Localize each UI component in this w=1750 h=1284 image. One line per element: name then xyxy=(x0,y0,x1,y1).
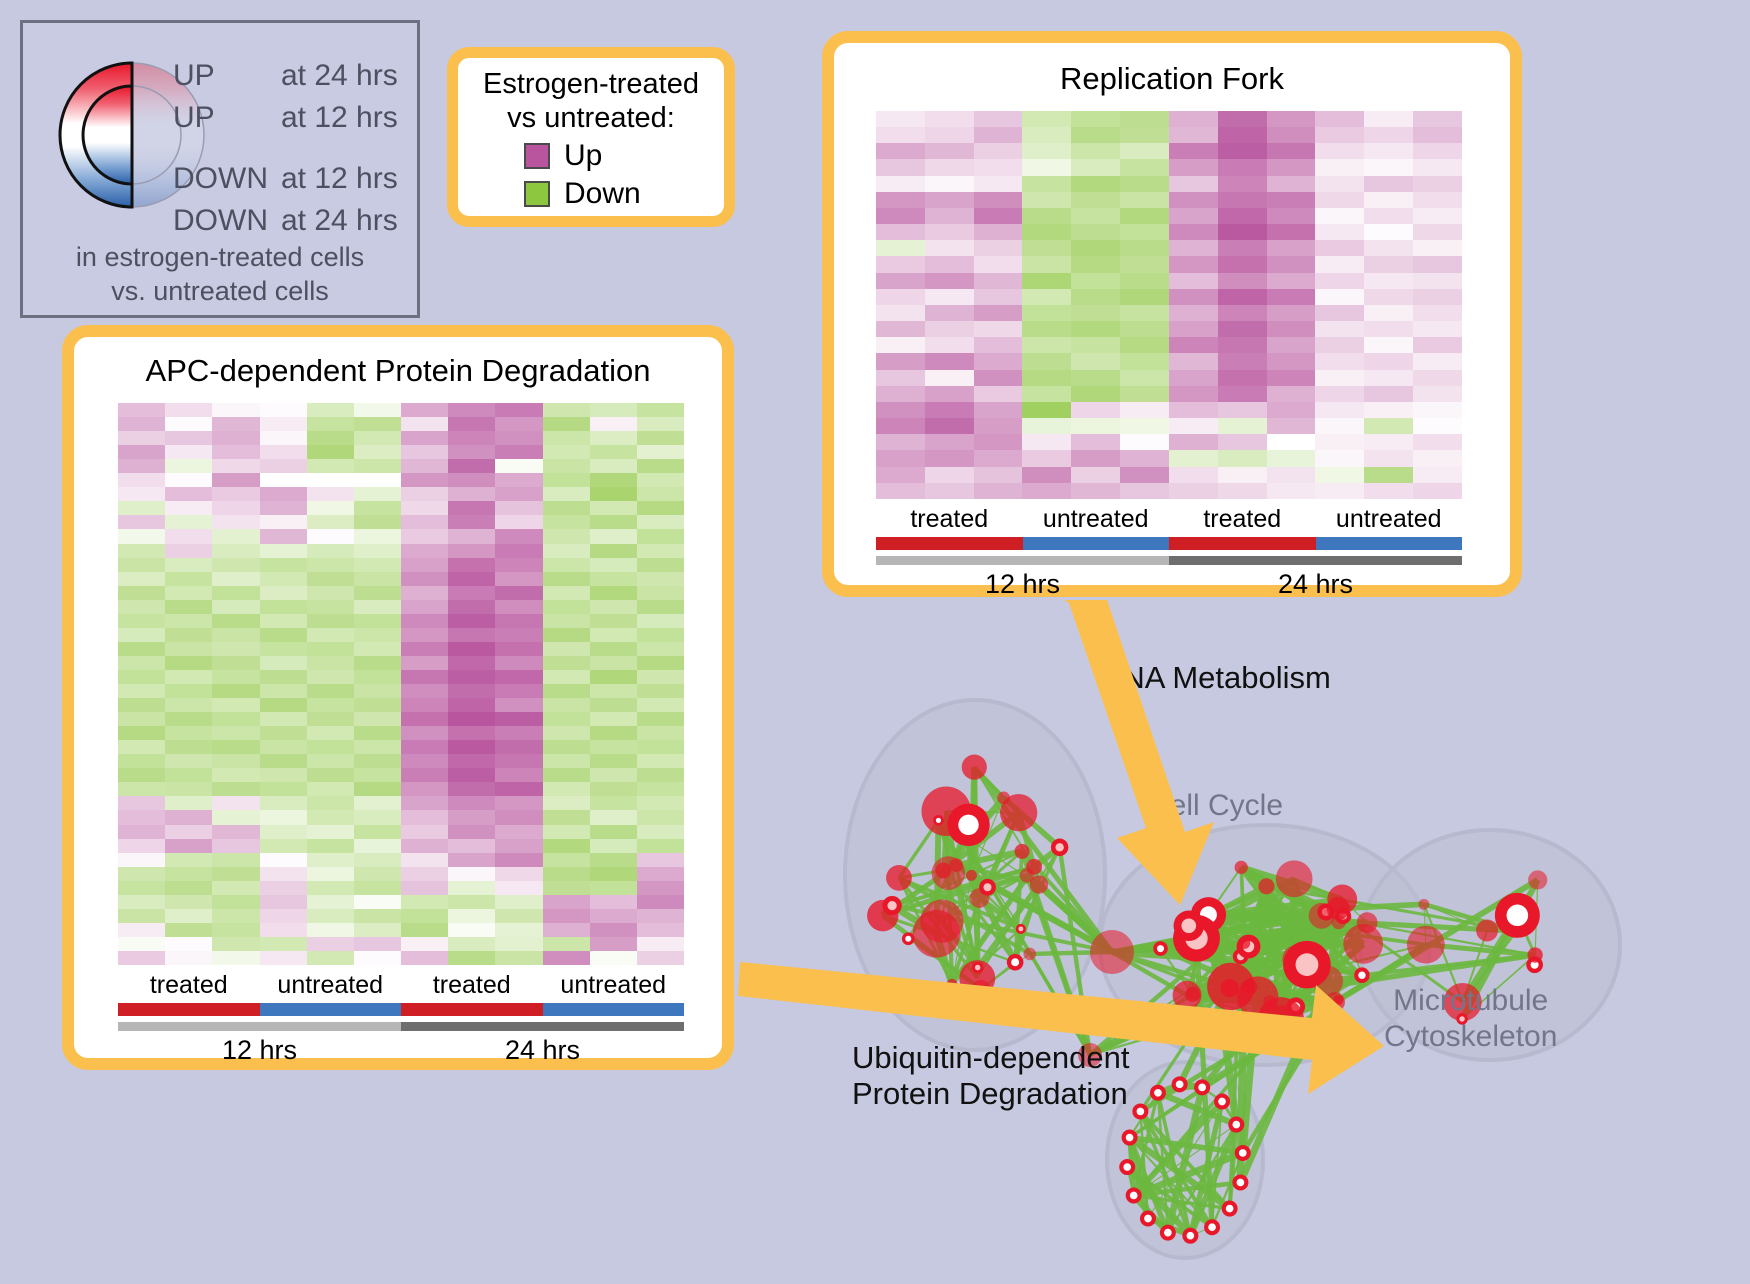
heatmap-cell xyxy=(543,923,590,937)
heatmap-cell xyxy=(974,273,1023,289)
heatmap-cell xyxy=(401,600,448,614)
heatmap-cell xyxy=(165,782,212,796)
heatmap-cell xyxy=(165,754,212,768)
heatmap-cell xyxy=(876,450,925,466)
heatmap-cell xyxy=(543,642,590,656)
heatmap-cell xyxy=(212,445,259,459)
heatmap-cell xyxy=(1169,143,1218,159)
heatmap-cell xyxy=(1120,370,1169,386)
heatmap-cell xyxy=(590,684,637,698)
key-label-0: UP xyxy=(173,59,215,93)
heatmap-cell xyxy=(307,951,354,965)
legend-title: Estrogen-treated vs untreated: xyxy=(458,58,724,135)
network-node-core xyxy=(1208,1223,1216,1231)
heatmap-cell xyxy=(1413,321,1462,337)
network-node xyxy=(1015,844,1030,859)
heatmap-cell xyxy=(1364,208,1413,224)
heatmap-cell xyxy=(1267,240,1316,256)
sample-color-bar xyxy=(1023,537,1170,550)
heatmap-cell xyxy=(212,656,259,670)
heatmap-cell xyxy=(543,459,590,473)
heatmap-cell xyxy=(448,867,495,881)
heatmap-cell xyxy=(165,403,212,417)
heatmap-cell xyxy=(354,445,401,459)
heatmap-cell xyxy=(165,586,212,600)
heatmap-cell xyxy=(974,370,1023,386)
time-label: 24 hrs xyxy=(1169,569,1462,600)
heatmap-cell xyxy=(637,909,684,923)
heatmap-cell xyxy=(448,628,495,642)
heatmap-cell xyxy=(354,768,401,782)
heatmap-cell xyxy=(307,628,354,642)
heatmap-cell xyxy=(1218,224,1267,240)
heatmap-cell xyxy=(401,403,448,417)
heatmap-cell xyxy=(307,459,354,473)
heatmap-cell xyxy=(260,445,307,459)
heatmap-cell xyxy=(637,782,684,796)
network-label-ubiquitin-line2: Protein Degradation xyxy=(852,1076,1128,1111)
heatmap-cell xyxy=(1071,256,1120,272)
heatmap-cell xyxy=(165,698,212,712)
heatmap-cell xyxy=(1022,321,1071,337)
heatmap-cell xyxy=(354,586,401,600)
heatmap-cell xyxy=(212,853,259,867)
heatmap-cell xyxy=(543,558,590,572)
network-node-core xyxy=(887,901,896,910)
heatmap-cell xyxy=(212,670,259,684)
heatmap-cell xyxy=(1120,402,1169,418)
heatmap-apc xyxy=(118,403,684,965)
heatmap-cell xyxy=(590,951,637,965)
heatmap-cell xyxy=(401,684,448,698)
heatmap-cell xyxy=(401,642,448,656)
heatmap-cell xyxy=(448,572,495,586)
heatmap-cell xyxy=(307,501,354,515)
heatmap-cell xyxy=(543,431,590,445)
heatmap-cell xyxy=(448,501,495,515)
heatmap-cell xyxy=(974,321,1023,337)
heatmap-cell xyxy=(165,431,212,445)
heatmap-cell xyxy=(307,923,354,937)
heatmap-cell xyxy=(876,434,925,450)
heatmap-cell xyxy=(495,951,542,965)
heatmap-cell xyxy=(543,782,590,796)
time-color-bar xyxy=(1169,556,1462,565)
heatmap-cell xyxy=(974,127,1023,143)
heatmap-cell xyxy=(165,558,212,572)
heatmap-cell xyxy=(1169,434,1218,450)
heatmap-cell xyxy=(1315,337,1364,353)
network-node-core xyxy=(1507,905,1529,927)
heatmap-cell xyxy=(212,768,259,782)
heatmap-cell xyxy=(212,867,259,881)
heatmap-cell xyxy=(543,445,590,459)
heatmap-cell xyxy=(1169,273,1218,289)
heatmap-cell xyxy=(260,403,307,417)
heatmap-cell xyxy=(925,208,974,224)
heatmap-cell xyxy=(1218,370,1267,386)
heatmap-cell xyxy=(1364,321,1413,337)
heatmap-cell xyxy=(1022,224,1071,240)
heatmap-cell xyxy=(590,572,637,586)
heatmap-cell xyxy=(307,473,354,487)
heatmap-cell xyxy=(590,515,637,529)
heatmap-cell xyxy=(1413,305,1462,321)
heatmap-cell xyxy=(165,445,212,459)
heatmap-cell xyxy=(307,656,354,670)
heatmap-cell xyxy=(260,698,307,712)
heatmap-cell xyxy=(354,909,401,923)
network-node-core xyxy=(1237,1179,1245,1187)
network-node xyxy=(1272,1005,1291,1024)
heatmap-cell xyxy=(543,937,590,951)
heatmap-cell xyxy=(307,417,354,431)
heatmap-cell xyxy=(1413,289,1462,305)
heatmap-cell xyxy=(1120,208,1169,224)
heatmap-cell xyxy=(637,572,684,586)
heatmap-cell xyxy=(925,143,974,159)
heatmap-cell xyxy=(925,273,974,289)
heatmap-cell xyxy=(1364,370,1413,386)
heatmap-cell xyxy=(212,628,259,642)
heatmap-cell xyxy=(1071,273,1120,289)
network-node-core xyxy=(1218,1098,1226,1106)
heatmap-cell xyxy=(260,586,307,600)
heatmap-cell xyxy=(260,417,307,431)
heatmap-cell xyxy=(212,839,259,853)
sample-labels-replication-fork: treateduntreatedtreateduntreated xyxy=(876,505,1462,534)
heatmap-cell xyxy=(118,431,165,445)
heatmap-cell xyxy=(974,159,1023,175)
heatmap-cell xyxy=(307,529,354,543)
heatmap-cell xyxy=(974,289,1023,305)
time-label: 12 hrs xyxy=(876,569,1169,600)
heatmap-cell xyxy=(1022,159,1071,175)
network-label-ubiquitin-line1: Ubiquitin-dependent xyxy=(852,1040,1130,1075)
sample-color-bar xyxy=(543,1003,685,1016)
heatmap-cell xyxy=(637,740,684,754)
heatmap-cell xyxy=(974,467,1023,483)
heatmap-cell xyxy=(401,628,448,642)
heatmap-cell xyxy=(1267,450,1316,466)
heatmap-cell xyxy=(1022,256,1071,272)
heatmap-cell xyxy=(401,487,448,501)
heatmap-cell xyxy=(165,740,212,754)
key-time-0: at 24 hrs xyxy=(281,59,398,93)
heatmap-cell xyxy=(876,143,925,159)
heatmap-cell xyxy=(118,445,165,459)
heatmap-cell xyxy=(1022,450,1071,466)
heatmap-cell xyxy=(637,937,684,951)
sample-label: treated xyxy=(876,505,1023,534)
heatmap-cell xyxy=(590,867,637,881)
heatmap-cell xyxy=(401,895,448,909)
network-node xyxy=(1221,979,1239,997)
heatmap-cell xyxy=(354,853,401,867)
network-node-core xyxy=(1232,1121,1240,1129)
heatmap-cell xyxy=(925,450,974,466)
heatmap-cell xyxy=(448,712,495,726)
network-node xyxy=(1090,930,1134,974)
heatmap-cell xyxy=(925,224,974,240)
heatmap-cell xyxy=(1022,353,1071,369)
heatmap-cell xyxy=(1413,483,1462,499)
heatmap-cell xyxy=(212,614,259,628)
heatmap-cell xyxy=(1267,143,1316,159)
heatmap-cell xyxy=(876,353,925,369)
heatmap-cell xyxy=(165,628,212,642)
heatmap-cell xyxy=(1315,483,1364,499)
heatmap-cell xyxy=(543,487,590,501)
heatmap-cell xyxy=(448,600,495,614)
heatmap-cell xyxy=(637,768,684,782)
heatmap-cell xyxy=(1022,434,1071,450)
sample-label: treated xyxy=(401,971,543,1000)
heatmap-cell xyxy=(448,909,495,923)
heatmap-cell xyxy=(1022,402,1071,418)
heatmap-cell xyxy=(448,726,495,740)
heatmap-cell xyxy=(876,483,925,499)
heatmap-cell xyxy=(1071,224,1120,240)
heatmap-cell xyxy=(165,839,212,853)
heatmap-cell xyxy=(1120,159,1169,175)
heatmap-cell xyxy=(212,881,259,895)
heatmap-cell xyxy=(260,909,307,923)
heatmap-cell xyxy=(1120,386,1169,402)
heatmap-cell xyxy=(118,810,165,824)
heatmap-cell xyxy=(212,684,259,698)
axis-block-replication-fork: treateduntreatedtreateduntreated 12 hrs2… xyxy=(876,505,1462,600)
heatmap-cell xyxy=(495,810,542,824)
heatmap-cell xyxy=(495,642,542,656)
network-node-core xyxy=(975,965,981,971)
heatmap-cell xyxy=(1169,321,1218,337)
heatmap-cell xyxy=(495,768,542,782)
heatmap-cell xyxy=(1315,418,1364,434)
network-node xyxy=(1407,926,1445,964)
heatmap-cell xyxy=(1120,434,1169,450)
network-label-dna-metabolism: DNA Metabolism xyxy=(1100,660,1331,696)
heatmap-cell xyxy=(590,810,637,824)
heatmap-cell xyxy=(637,810,684,824)
heatmap-cell xyxy=(165,951,212,965)
heatmap-cell xyxy=(590,923,637,937)
network-node-core xyxy=(1358,971,1365,978)
heatmap-cell xyxy=(543,825,590,839)
heatmap-cell xyxy=(637,712,684,726)
heatmap-cell xyxy=(212,923,259,937)
network-node xyxy=(1325,992,1345,1012)
heatmap-cell xyxy=(925,111,974,127)
heatmap-cell xyxy=(974,224,1023,240)
heatmap-cell xyxy=(401,853,448,867)
heatmap-cell xyxy=(260,501,307,515)
heatmap-cell xyxy=(307,600,354,614)
heatmap-cell xyxy=(1364,434,1413,450)
heatmap-cell xyxy=(118,628,165,642)
heatmap-cell xyxy=(165,459,212,473)
heatmap-cell xyxy=(974,192,1023,208)
heatmap-cell xyxy=(637,951,684,965)
heatmap-cell xyxy=(165,867,212,881)
heatmap-cell xyxy=(354,754,401,768)
heatmap-cell xyxy=(118,712,165,726)
heatmap-cell xyxy=(925,321,974,337)
heatmap-cell xyxy=(212,459,259,473)
sample-color-bar xyxy=(401,1003,543,1016)
network-node-core xyxy=(958,815,978,835)
heatmap-cell xyxy=(1120,224,1169,240)
network-node-core xyxy=(1181,918,1196,933)
heatmap-cell xyxy=(307,853,354,867)
heatmap-cell xyxy=(543,839,590,853)
heatmap-cell xyxy=(1169,305,1218,321)
heatmap-cell xyxy=(1218,111,1267,127)
heatmap-cell xyxy=(1169,224,1218,240)
heatmap-cell xyxy=(1267,386,1316,402)
heatmap-cell xyxy=(1267,192,1316,208)
heatmap-cell xyxy=(448,403,495,417)
heatmap-cell xyxy=(1120,321,1169,337)
heatmap-cell xyxy=(1120,256,1169,272)
heatmap-cell xyxy=(212,529,259,543)
heatmap-cell xyxy=(165,544,212,558)
heatmap-cell xyxy=(401,909,448,923)
heatmap-cell xyxy=(307,839,354,853)
heatmap-cell xyxy=(354,515,401,529)
legend-item-up: Up xyxy=(458,139,724,173)
heatmap-cell xyxy=(1413,386,1462,402)
heatmap-cell xyxy=(1218,467,1267,483)
heatmap-cell xyxy=(354,839,401,853)
heatmap-cell xyxy=(1120,143,1169,159)
heatmap-cell xyxy=(1315,176,1364,192)
heatmap-cell xyxy=(925,483,974,499)
heatmap-cell xyxy=(448,881,495,895)
heatmap-cell xyxy=(1022,127,1071,143)
heatmap-cell xyxy=(925,192,974,208)
heatmap-cell xyxy=(354,544,401,558)
heatmap-cell xyxy=(1120,192,1169,208)
heatmap-cell xyxy=(1413,434,1462,450)
heatmap-cell xyxy=(448,642,495,656)
heatmap-cell xyxy=(165,923,212,937)
heatmap-cell xyxy=(448,684,495,698)
heatmap-cell xyxy=(1267,273,1316,289)
heatmap-cell xyxy=(495,909,542,923)
heatmap-cell xyxy=(925,434,974,450)
heatmap-cell xyxy=(260,473,307,487)
heatmap-cell xyxy=(590,698,637,712)
network-node-core xyxy=(1296,953,1319,976)
heatmap-cell xyxy=(590,839,637,853)
heatmap-cell xyxy=(212,403,259,417)
network-node-core xyxy=(1011,958,1019,966)
heatmap-cell xyxy=(448,431,495,445)
heatmap-cell xyxy=(543,867,590,881)
heatmap-cell xyxy=(637,614,684,628)
heatmap-cell xyxy=(401,881,448,895)
heatmap-cell xyxy=(354,937,401,951)
heatmap-cell xyxy=(1218,402,1267,418)
heatmap-cell xyxy=(401,839,448,853)
heatmap-cell xyxy=(637,445,684,459)
heatmap-cell xyxy=(1022,273,1071,289)
heatmap-cell xyxy=(1413,273,1462,289)
heatmap-cell xyxy=(354,558,401,572)
heatmap-cell xyxy=(1022,337,1071,353)
sample-color-bar xyxy=(118,1003,260,1016)
heatmap-cell xyxy=(118,459,165,473)
heatmap-cell xyxy=(637,867,684,881)
heatmap-cell xyxy=(925,337,974,353)
heatmap-cell xyxy=(260,853,307,867)
heatmap-cell xyxy=(495,445,542,459)
heatmap-cell xyxy=(1022,483,1071,499)
heatmap-cell xyxy=(448,951,495,965)
heatmap-cell xyxy=(118,473,165,487)
key-time-2: at 12 hrs xyxy=(281,162,398,196)
heatmap-cell xyxy=(543,951,590,965)
heatmap-cell xyxy=(1218,143,1267,159)
heatmap-cell xyxy=(1315,289,1364,305)
heatmap-cell xyxy=(1120,289,1169,305)
heatmap-cell xyxy=(974,337,1023,353)
heatmap-cell xyxy=(495,698,542,712)
heatmap-cell xyxy=(1120,337,1169,353)
heatmap-cell xyxy=(495,881,542,895)
heatmap-cell xyxy=(354,501,401,515)
heatmap-cell xyxy=(307,740,354,754)
heatmap-cell xyxy=(118,600,165,614)
heatmap-cell xyxy=(1218,434,1267,450)
heatmap-cell xyxy=(1218,450,1267,466)
heatmap-cell xyxy=(1413,176,1462,192)
legend-title-line2: vs untreated: xyxy=(458,101,724,135)
heatmap-cell xyxy=(1315,127,1364,143)
heatmap-cell xyxy=(1169,370,1218,386)
heatmap-cell xyxy=(401,712,448,726)
heatmap-cell xyxy=(448,558,495,572)
heatmap-cell xyxy=(401,614,448,628)
heatmap-cell xyxy=(1120,353,1169,369)
heatmap-cell xyxy=(212,782,259,796)
heatmap-cell xyxy=(925,370,974,386)
network-node xyxy=(1511,926,1522,937)
heatmap-cell xyxy=(1169,240,1218,256)
heatmap-cell xyxy=(1071,483,1120,499)
heatmap-cell xyxy=(307,403,354,417)
heatmap-cell xyxy=(165,515,212,529)
heatmap-cell xyxy=(307,642,354,656)
heatmap-cell xyxy=(543,881,590,895)
heatmap-cell xyxy=(495,628,542,642)
heatmap-cell xyxy=(212,825,259,839)
heatmap-cell xyxy=(212,754,259,768)
heatmap-cell xyxy=(1022,418,1071,434)
heatmap-cell xyxy=(307,670,354,684)
heatmap-cell xyxy=(974,386,1023,402)
heatmap-cell xyxy=(876,418,925,434)
network-node xyxy=(1239,937,1251,949)
heatmap-cell xyxy=(354,600,401,614)
heatmap-cell xyxy=(1364,111,1413,127)
heatmap-cell xyxy=(543,614,590,628)
heatmap-cell xyxy=(974,143,1023,159)
heatmap-cell xyxy=(1364,483,1413,499)
heatmap-cell xyxy=(307,810,354,824)
heatmap-cell xyxy=(212,473,259,487)
